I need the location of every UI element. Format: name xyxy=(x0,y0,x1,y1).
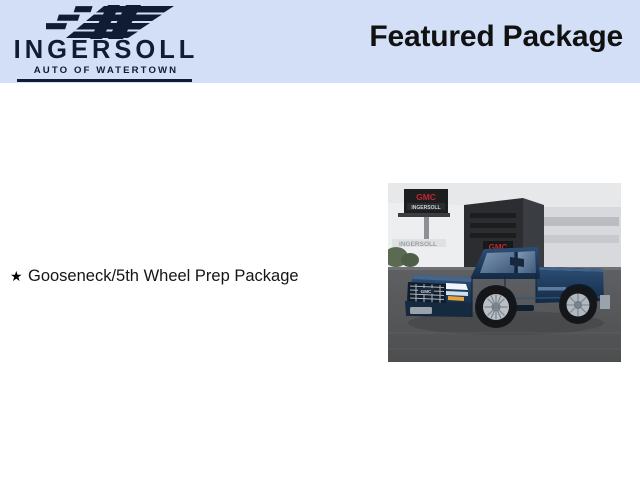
feature-list: ★ Gooseneck/5th Wheel Prep Package xyxy=(6,266,366,286)
vehicle-photo: GMC INGERSOLL GMC INGERSOLL xyxy=(388,183,621,362)
svg-text:INGERSOLL: INGERSOLL xyxy=(411,205,440,211)
logo-wordmark: INGERSOLL xyxy=(8,38,204,64)
svg-text:GMC: GMC xyxy=(421,289,432,294)
star-bullet-icon: ★ xyxy=(6,266,28,286)
logo-underline-rule xyxy=(17,79,192,82)
list-item: ★ Gooseneck/5th Wheel Prep Package xyxy=(6,266,366,286)
winged-chevron-emblem-icon xyxy=(46,5,176,39)
dealer-logo[interactable]: INGERSOLL AUTO OF WATERTOWN xyxy=(8,2,208,80)
feature-label: Gooseneck/5th Wheel Prep Package xyxy=(28,266,299,286)
logo-tagline: AUTO OF WATERTOWN xyxy=(8,66,204,76)
svg-text:INGERSOLL: INGERSOLL xyxy=(399,241,437,248)
svg-text:GMC: GMC xyxy=(416,192,436,202)
page-title: Featured Package xyxy=(369,22,623,52)
